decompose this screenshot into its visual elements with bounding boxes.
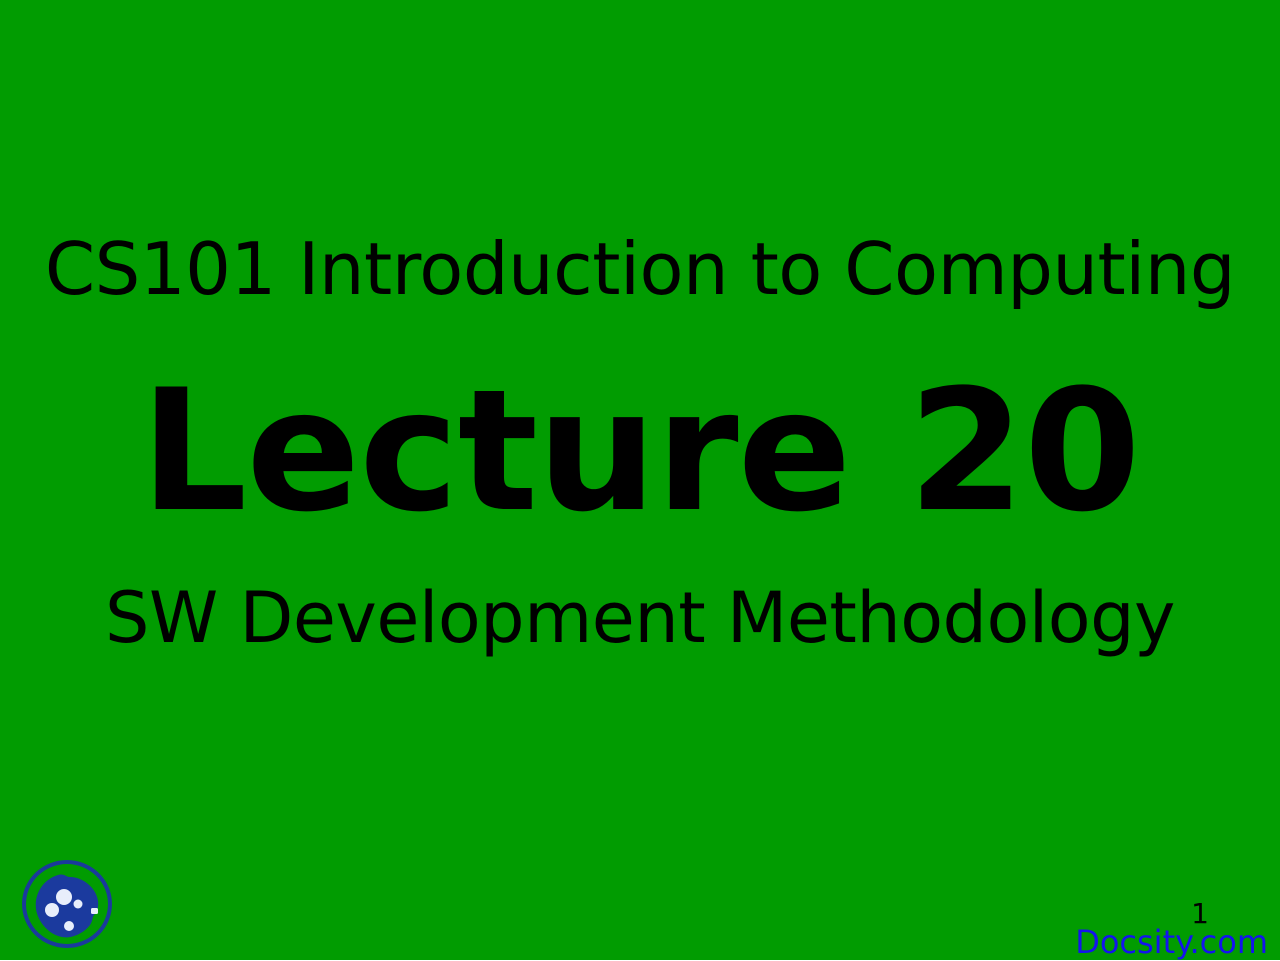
- title-block: CS101 Introduction to Computing Lecture …: [0, 0, 1280, 960]
- slide-canvas: CS101 Introduction to Computing Lecture …: [0, 0, 1280, 960]
- docsity-logo-icon: [20, 857, 115, 952]
- lecture-title: Lecture 20: [140, 367, 1140, 535]
- docsity-watermark: Docsity.com: [1075, 926, 1268, 958]
- topic-subtitle: SW Development Methodology: [105, 583, 1175, 653]
- course-title: CS101 Introduction to Computing: [45, 233, 1235, 305]
